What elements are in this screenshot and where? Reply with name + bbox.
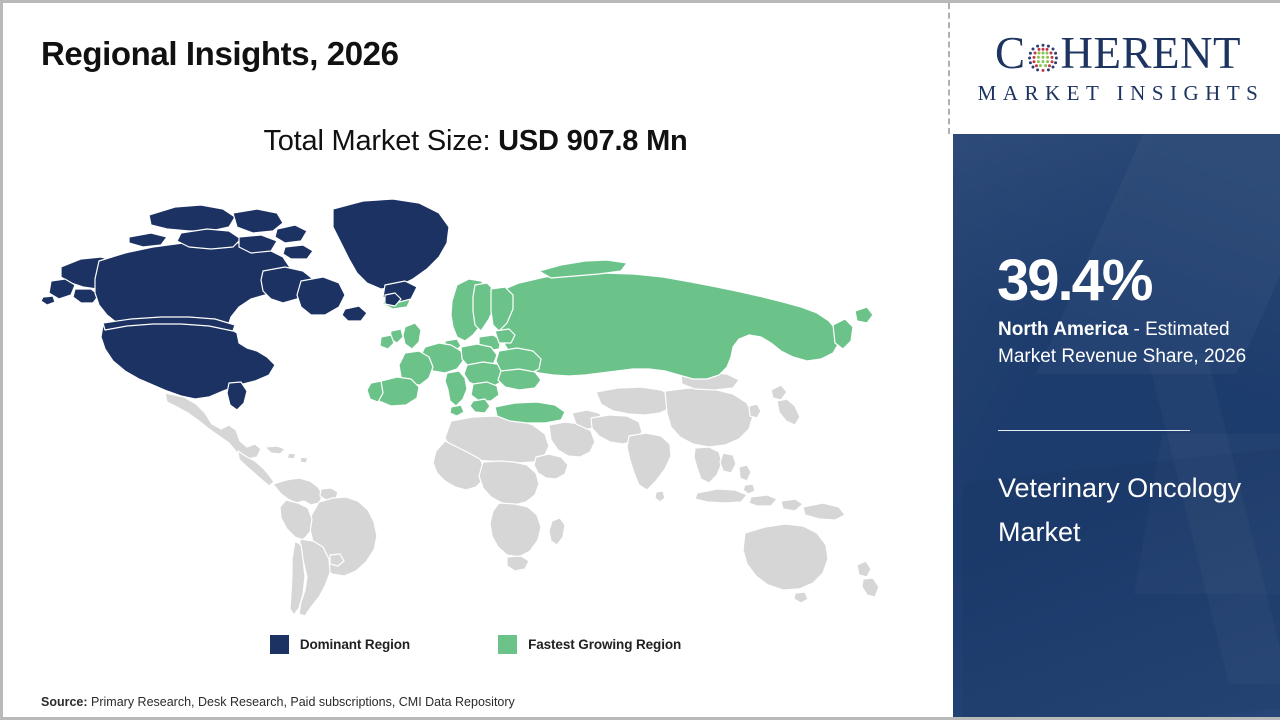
legend-label-fastest-growing: Fastest Growing Region	[528, 637, 681, 652]
stat-panel: 39.4% North America - Estimated Market R…	[953, 134, 1280, 717]
world-map-svg	[33, 185, 918, 625]
source-line: Source: Primary Research, Desk Research,…	[41, 695, 515, 709]
source-text: Primary Research, Desk Research, Paid su…	[88, 695, 515, 709]
total-market-size-value: USD 907.8 Mn	[498, 125, 687, 157]
logo-wordmark: C	[968, 31, 1268, 76]
total-market-size: Total Market Size: USD 907.8 Mn	[3, 125, 948, 158]
stat-percentage: 39.4%	[997, 252, 1151, 310]
dotted-globe-icon	[1026, 38, 1060, 72]
source-label: Source:	[41, 695, 88, 709]
fastest-growing-region-swatch	[498, 635, 517, 654]
left-content-panel: Regional Insights, 2026 Total Market Siz…	[3, 3, 948, 717]
coherent-market-insights-logo[interactable]: C	[968, 31, 1268, 106]
stat-region-name: North America	[998, 319, 1128, 340]
logo-letters-herent: HERENT	[1061, 31, 1241, 76]
page-title: Regional Insights, 2026	[41, 35, 399, 73]
total-market-size-label: Total Market Size:	[263, 125, 498, 157]
brand-logo-area: C	[953, 3, 1280, 134]
dominant-region-swatch	[270, 635, 289, 654]
legend-item-dominant[interactable]: Dominant Region	[270, 635, 410, 654]
legend-item-fastest-growing[interactable]: Fastest Growing Region	[498, 635, 681, 654]
logo-tagline: MARKET INSIGHTS	[968, 81, 1268, 106]
logo-letter-c: C	[995, 31, 1026, 76]
stat-description: North America - Estimated Market Revenue…	[998, 317, 1263, 371]
market-name: Veterinary Oncology Market	[998, 467, 1248, 554]
map-legend: Dominant Region Fastest Growing Region	[3, 635, 948, 654]
legend-label-dominant: Dominant Region	[300, 637, 410, 652]
vertical-dashed-divider	[948, 3, 950, 134]
world-map-container	[33, 185, 918, 625]
stat-divider-rule	[998, 430, 1190, 431]
infographic-page: Regional Insights, 2026 Total Market Siz…	[0, 0, 1280, 720]
